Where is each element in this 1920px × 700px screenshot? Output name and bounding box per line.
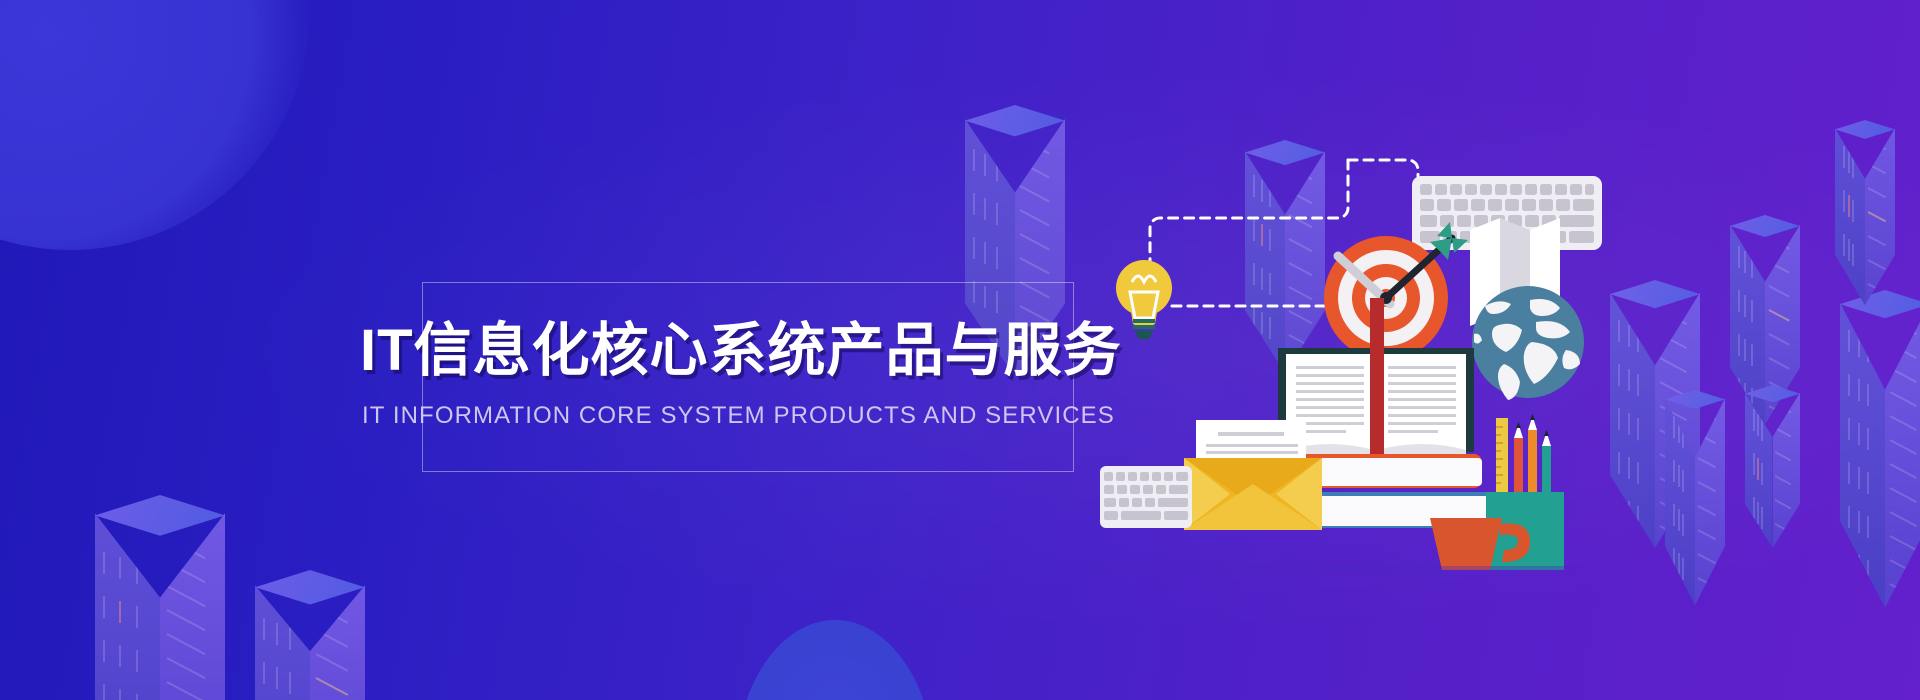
illustration-svg (1100, 120, 1640, 570)
pencil-orange (1528, 414, 1537, 500)
page-subtitle: IT INFORMATION CORE SYSTEM PRODUCTS AND … (362, 402, 1102, 430)
target-arrow-icon (1324, 222, 1468, 360)
open-book-icon (1278, 298, 1474, 466)
lightbulb-icon (1116, 260, 1172, 339)
pencil-red (1514, 422, 1523, 500)
desk-shadow (1100, 566, 1570, 570)
page-title: IT信息化核心系统产品与服务 (360, 322, 1100, 380)
keyboard-bottom-icon (1100, 466, 1192, 528)
hero-illustration (1100, 120, 1640, 570)
pencil-teal (1542, 430, 1551, 500)
globe-icon (1472, 286, 1584, 400)
envelope-document-icon (1184, 420, 1322, 530)
banner-root: IT信息化核心系统产品与服务 IT INFORMATION CORE SYSTE… (0, 0, 1920, 700)
